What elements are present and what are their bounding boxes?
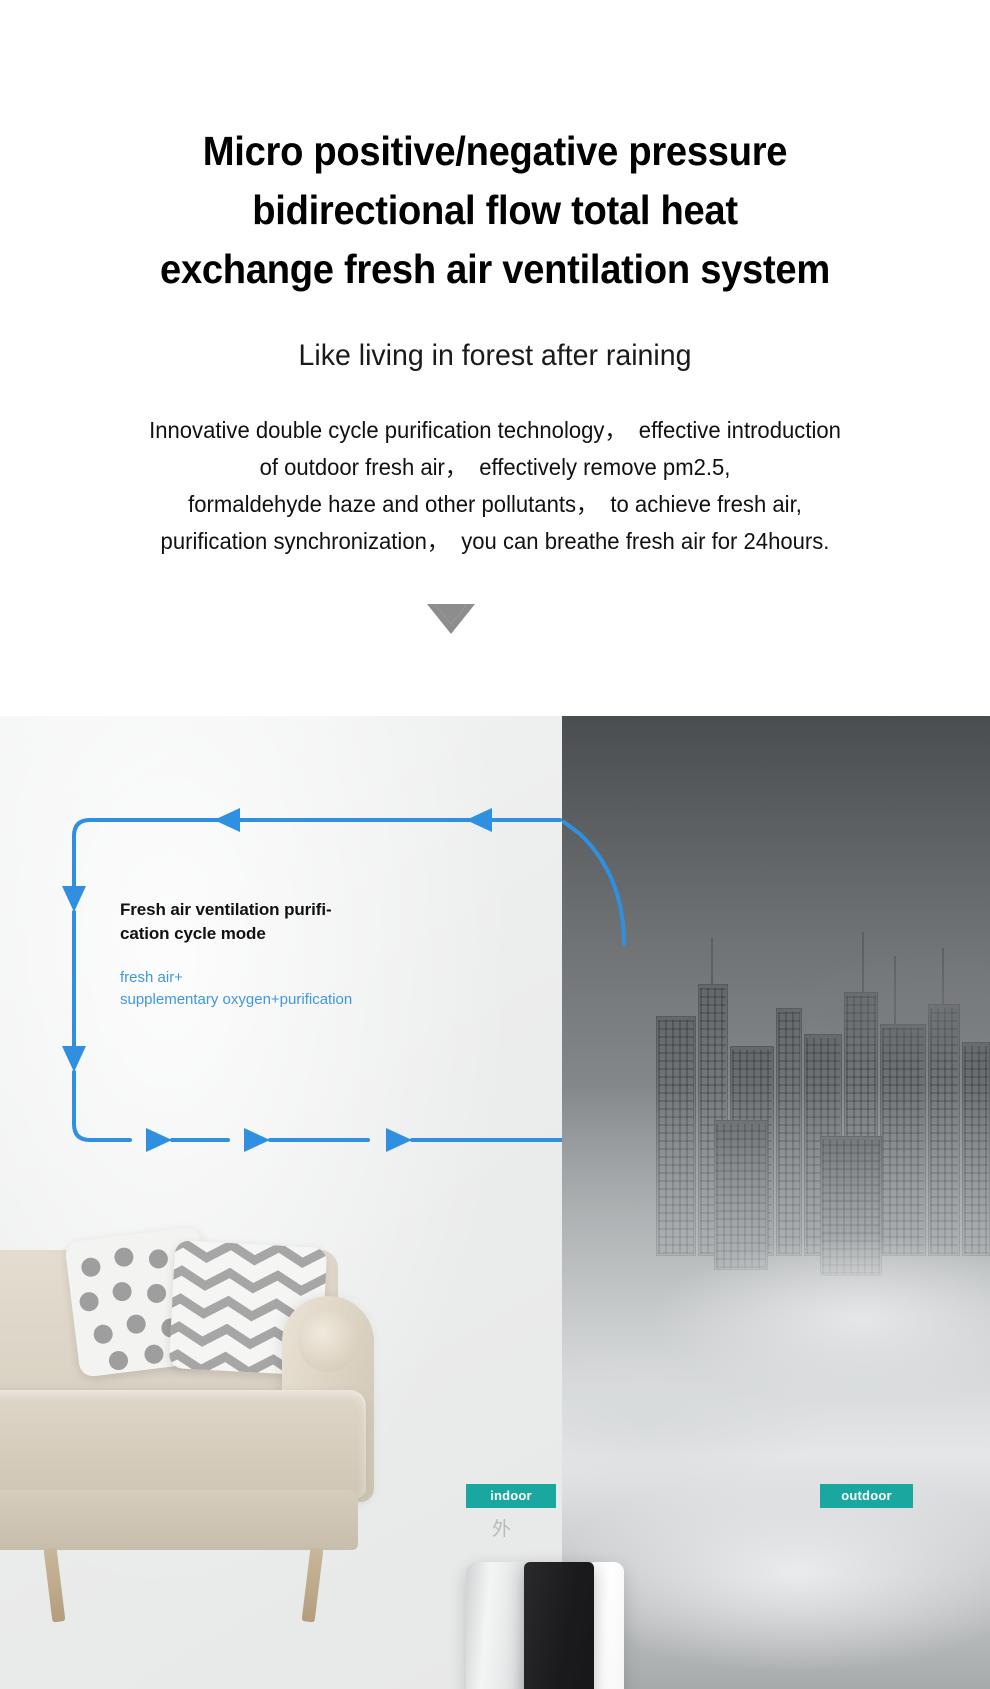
mode-subtitle-line-1: fresh air+ (120, 967, 460, 989)
device-right-panel (590, 1562, 624, 1689)
outdoor-badge: outdoor (820, 1484, 913, 1508)
page-title: Micro positive/negative pressure bidirec… (35, 122, 956, 299)
intake-curve-icon (560, 816, 650, 946)
description-paragraph: Innovative double cycle purification tec… (20, 412, 970, 560)
description-line-1: Innovative double cycle purification tec… (20, 412, 970, 449)
description-line-3: formaldehyde haze and other pollutants， … (20, 486, 970, 523)
indoor-badge: indoor (466, 1484, 556, 1508)
page-title-line-3: exchange fresh air ventilation system (35, 240, 956, 299)
mode-title-line-2: cation cycle mode (120, 922, 450, 946)
hero-section: Micro positive/negative pressure bidirec… (0, 0, 990, 716)
mode-subtitle-line-2: supplementary oxygen+purification (120, 989, 460, 1011)
air-cycle-loop-icon (0, 716, 562, 1689)
page-subtitle: Like living in forest after raining (25, 334, 966, 378)
mode-title-line-1: Fresh air ventilation purifi- (120, 898, 450, 922)
product-illustration-panel: PM2.5 888 CO2 8888 ❄☀❖☾▲▼✓ Fresh air ven… (0, 716, 990, 1689)
mode-subtitle: fresh air+ supplementary oxygen+purifica… (120, 967, 460, 1011)
chevron-down-icon (425, 600, 477, 640)
watermark-text: 外 (492, 1514, 511, 1541)
page-title-line-2: bidirectional flow total heat (35, 181, 956, 240)
device-left-panel (466, 1562, 526, 1689)
page-title-line-1: Micro positive/negative pressure (35, 122, 956, 181)
description-line-4: purification synchronization， you can br… (20, 523, 970, 560)
description-line-2: of outdoor fresh air， effectively remove… (20, 449, 970, 486)
fresh-air-device: PM2.5 888 CO2 8888 ❄☀❖☾▲▼✓ (466, 1562, 624, 1689)
device-front-panel: PM2.5 888 CO2 8888 ❄☀❖☾▲▼✓ (524, 1562, 594, 1689)
mode-title: Fresh air ventilation purifi- cation cyc… (120, 898, 450, 946)
